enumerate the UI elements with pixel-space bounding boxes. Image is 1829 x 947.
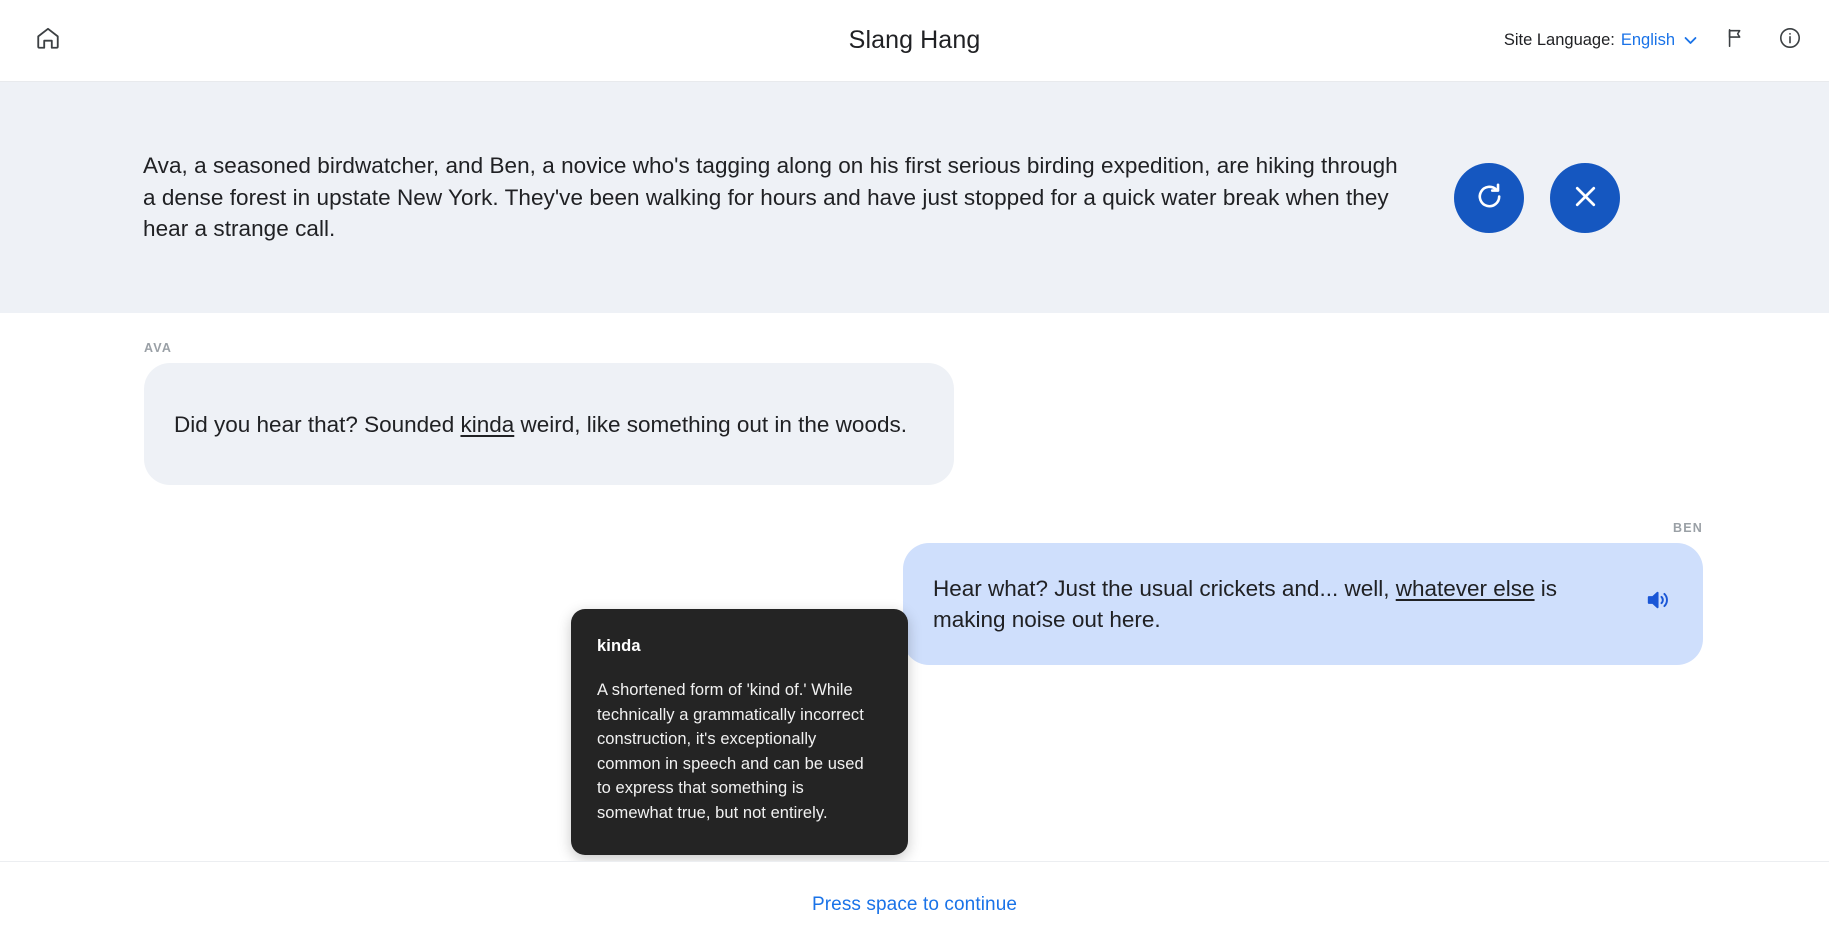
speaker-label-ben: BEN — [1673, 521, 1703, 535]
regenerate-scenario-button[interactable] — [1454, 163, 1524, 233]
slang-term-whatever-else[interactable]: whatever else — [1396, 576, 1535, 601]
home-icon — [35, 25, 61, 56]
home-button[interactable] — [26, 19, 70, 63]
conversation-area: AVA Did you hear that? Sounded kinda wei… — [0, 313, 1829, 861]
site-language-selector[interactable]: Site Language: English — [1504, 31, 1699, 50]
message-text-ava-before: Did you hear that? Sounded — [174, 412, 460, 437]
info-button[interactable] — [1773, 24, 1807, 58]
speaker-label-ava: AVA — [144, 341, 172, 355]
chevron-down-icon[interactable] — [1682, 32, 1699, 49]
flag-icon — [1725, 27, 1747, 54]
tooltip-definition: A shortened form of 'kind of.' While tec… — [597, 678, 882, 825]
scenario-description: Ava, a seasoned birdwatcher, and Ben, a … — [143, 150, 1398, 245]
app-header: Slang Hang Site Language: English — [0, 0, 1829, 82]
close-scenario-button[interactable] — [1550, 163, 1620, 233]
close-icon — [1570, 181, 1601, 215]
header-actions: Site Language: English — [1504, 24, 1807, 58]
refresh-icon — [1474, 181, 1505, 215]
volume-icon — [1645, 587, 1671, 621]
message-bubble-ben[interactable]: Hear what? Just the usual crickets and..… — [903, 543, 1703, 665]
message-text-ben-before: Hear what? Just the usual crickets and..… — [933, 576, 1396, 601]
message-text-ava: Did you hear that? Sounded kinda weird, … — [174, 409, 924, 440]
message-bubble-ava[interactable]: Did you hear that? Sounded kinda weird, … — [144, 363, 954, 485]
message-ava: AVA Did you hear that? Sounded kinda wei… — [44, 341, 1785, 485]
scenario-actions — [1454, 163, 1620, 233]
message-text-ava-after: weird, like something out in the woods. — [514, 412, 907, 437]
slang-term-kinda[interactable]: kinda — [460, 412, 514, 437]
message-text-ben: Hear what? Just the usual crickets and..… — [933, 573, 1625, 635]
play-audio-button-ben[interactable] — [1643, 589, 1673, 619]
message-spacer — [44, 485, 1785, 521]
continue-hint[interactable]: Press space to continue — [812, 894, 1017, 916]
slang-definition-tooltip: kinda A shortened form of 'kind of.' Whi… — [571, 609, 908, 855]
site-language-value[interactable]: English — [1621, 31, 1675, 50]
report-flag-button[interactable] — [1719, 24, 1753, 58]
site-language-label: Site Language: — [1504, 31, 1615, 50]
message-ben: BEN Hear what? Just the usual crickets a… — [44, 521, 1785, 665]
app-footer: Press space to continue — [0, 861, 1829, 947]
app-root: Slang Hang Site Language: English — [0, 0, 1829, 947]
info-icon — [1778, 26, 1802, 55]
tooltip-term: kinda — [597, 637, 882, 656]
scenario-panel: Ava, a seasoned birdwatcher, and Ben, a … — [0, 82, 1829, 313]
